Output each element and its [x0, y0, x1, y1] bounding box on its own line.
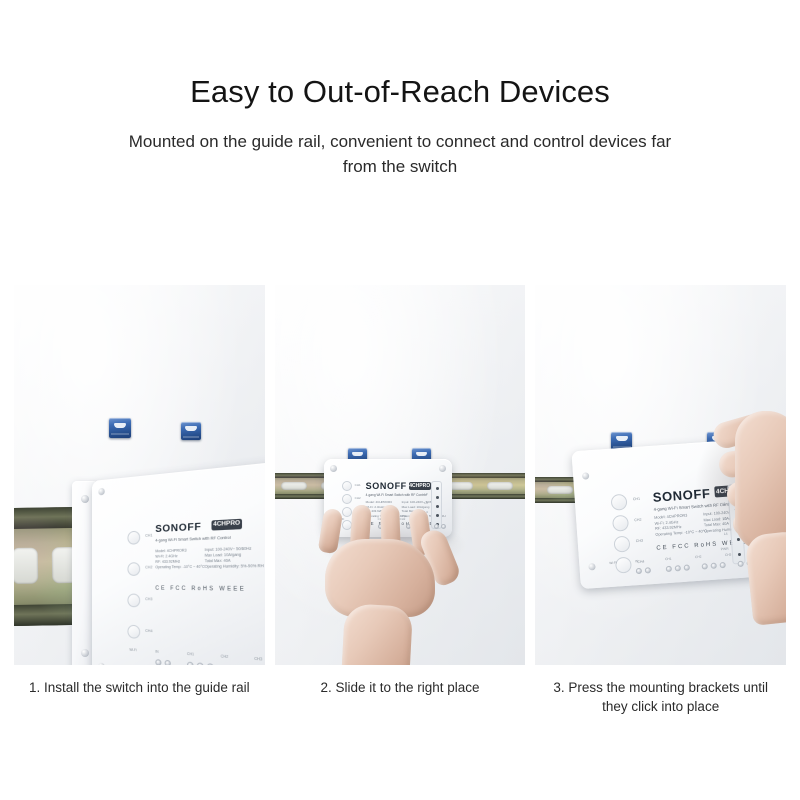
palm [735, 411, 786, 551]
device-spec-right: Input: 100-240V~ 50/60Hz Max Load: 10A/g… [205, 546, 264, 571]
rail-slot [281, 482, 307, 490]
page-subtitle: Mounted on the guide rail, convenient to… [110, 129, 690, 179]
device-corner-screw [439, 465, 446, 472]
rail-slot [14, 548, 38, 584]
rail-slot [487, 482, 513, 490]
mounting-bracket[interactable] [181, 422, 201, 440]
status-led [436, 496, 439, 499]
terminal-label: IN [635, 559, 638, 563]
device-button-column [126, 531, 144, 647]
mounting-bracket[interactable] [109, 418, 131, 438]
bracket-tab [185, 426, 196, 431]
hand-pressing [675, 393, 786, 623]
channel-button[interactable] [127, 531, 140, 545]
channel-label: CH2 [635, 518, 642, 522]
step-captions: 1. Install the switch into the guide rai… [14, 678, 786, 716]
led-label: L3 [425, 501, 428, 505]
header-block: Easy to Out-of-Reach Devices Mounted on … [0, 0, 800, 179]
step-panel-1: SONOFF 4CHPRO 4-gang Wi-Fi Smart Switch … [14, 285, 265, 665]
device-spec-left: Model: 4CHPROR3 Wi-Fi: 2.4GHz RF: 433.92… [155, 548, 204, 571]
bracket-ridge [183, 436, 200, 438]
terminal-label: CH3 [254, 656, 262, 661]
spec-line: Operating Humidity: 5%-90% RH [205, 564, 264, 571]
housing-screw [81, 649, 89, 657]
channel-label: CH2 [145, 565, 152, 569]
channel-button[interactable] [342, 494, 352, 504]
channel-button[interactable] [611, 494, 628, 511]
terminal-screw [207, 663, 214, 665]
channel-button[interactable] [342, 481, 352, 491]
terminal-screw [155, 659, 161, 665]
channel-label: CH3 [145, 597, 152, 601]
channel-label: CH1 [145, 533, 152, 538]
terminal-screw [645, 567, 651, 573]
led-label: L1 [425, 483, 428, 487]
status-led [436, 487, 439, 490]
terminal-screw [666, 566, 672, 572]
terminal-screw [197, 662, 204, 665]
step-panel-3: SONOFF 4CHPRO 4-gang Wi-Fi Smart Switch … [535, 285, 786, 665]
channel-button[interactable] [612, 515, 629, 532]
channel-button[interactable] [614, 536, 631, 553]
wrist [341, 603, 413, 665]
rail-slot [547, 486, 573, 494]
terminal-label: CH1 [665, 557, 672, 561]
page-title: Easy to Out-of-Reach Devices [0, 74, 800, 111]
bracket-tab [616, 436, 628, 441]
caption-step-1: 1. Install the switch into the guide rai… [14, 678, 265, 716]
sonoff-switch-1: SONOFF 4CHPRO 4-gang Wi-Fi Smart Switch … [92, 459, 265, 665]
terminal-screw [636, 568, 642, 574]
device-model-badge: 4CHPRO [211, 519, 242, 531]
terminal-label: CH2 [221, 654, 228, 659]
channel-label: CH1 [355, 483, 361, 487]
caption-step-2: 2. Slide it to the right place [275, 678, 526, 716]
terminal-label: CH1 [187, 652, 194, 657]
terminal-screw [187, 662, 194, 665]
device-corner-screw [330, 465, 337, 472]
spec-line: Operating Temp: -10°C ~ 40°C [155, 565, 204, 571]
channel-label: CH3 [636, 539, 643, 543]
channel-button[interactable] [127, 625, 140, 639]
step-panels: SONOFF 4CHPRO 4-gang Wi-Fi Smart Switch … [14, 285, 786, 665]
channel-label: CH4 [145, 629, 152, 634]
bracket-tab [416, 452, 427, 456]
device-certifications: CE FCC RoHS WEEE [155, 585, 246, 593]
channel-button[interactable] [127, 594, 140, 608]
bracket-tab [114, 423, 126, 428]
terminal-label: IN [155, 649, 158, 654]
housing-screw [81, 495, 89, 503]
terminal-label: Wi-Fi [609, 561, 617, 566]
channel-label: CH1 [633, 497, 640, 501]
wrist [745, 530, 786, 626]
hand-sliding [299, 513, 479, 665]
led-label: L2 [425, 492, 428, 496]
channel-button[interactable] [127, 562, 140, 576]
bracket-tab [352, 452, 363, 456]
device-brand: SONOFF [366, 481, 407, 491]
terminal-label: Wi-Fi [129, 648, 136, 653]
device-tagline: 4-gang Wi-Fi Smart Switch with RF Contro… [366, 493, 427, 497]
step-panel-2: SONOFF 4CHPRO 4-gang Wi-Fi Smart Switch … [275, 285, 526, 665]
device-brand: SONOFF [155, 521, 201, 535]
terminal-screw [165, 660, 171, 665]
caption-step-3: 3. Press the mounting brackets until the… [535, 678, 786, 716]
status-led [436, 505, 439, 508]
bracket-ridge [111, 433, 130, 435]
channel-label: CH2 [355, 496, 361, 500]
